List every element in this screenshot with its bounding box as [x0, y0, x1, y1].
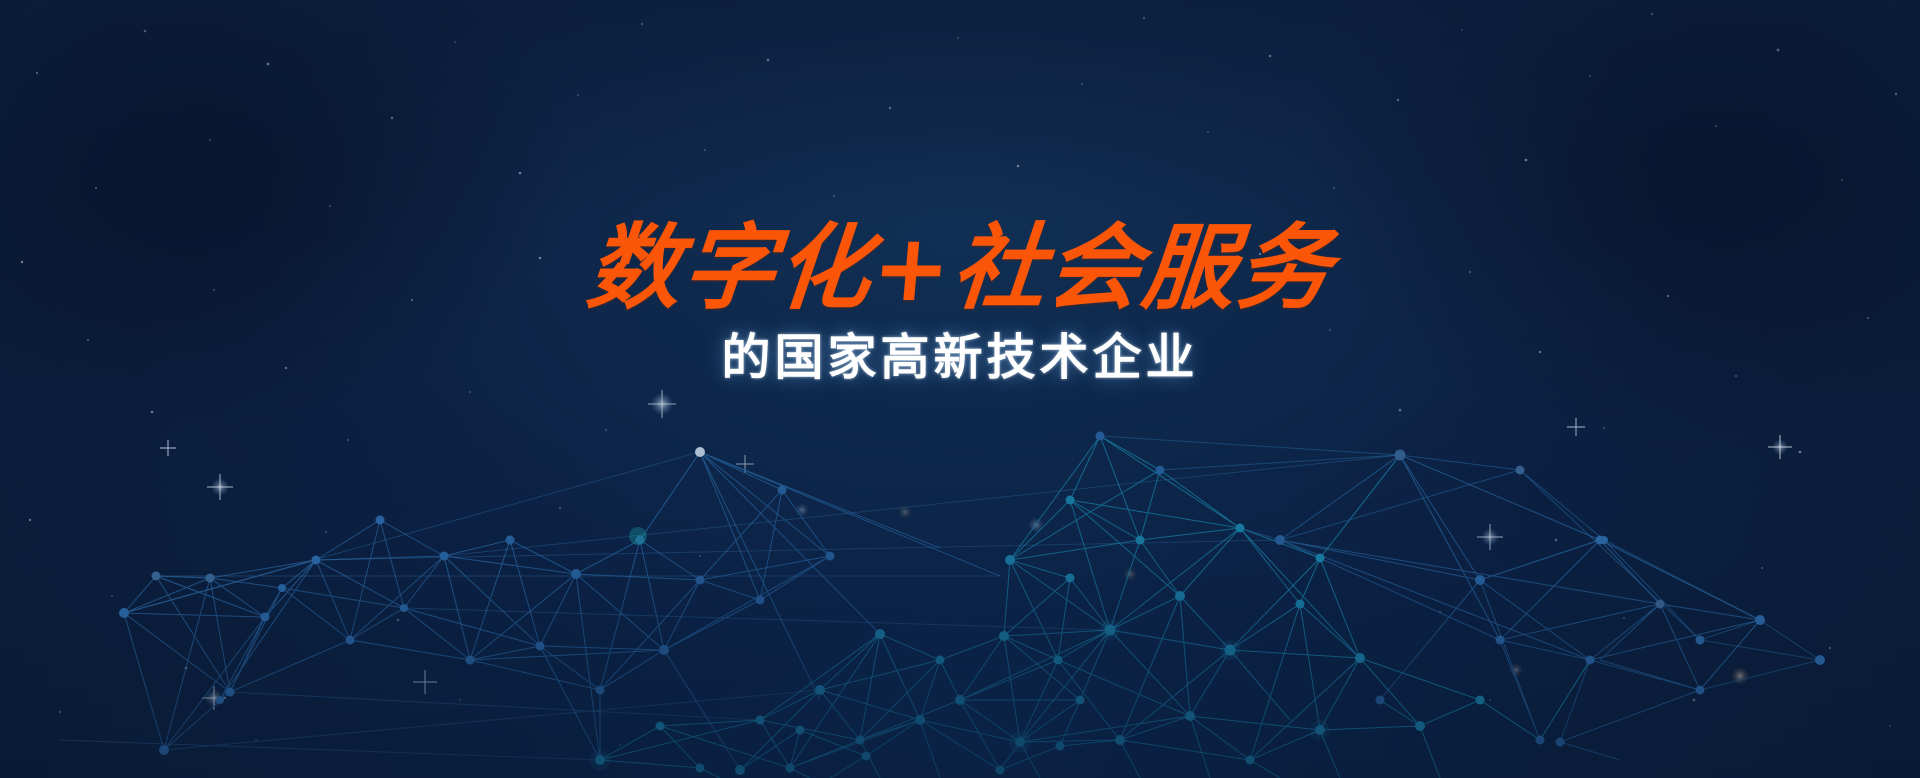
mesh-links-midleft — [350, 452, 1000, 770]
page-title: 数字化+社会服务 — [0, 222, 1920, 315]
hero-text-block: 数字化+社会服务 的国家高新技术企业 — [0, 222, 1920, 385]
hero-banner: 数字化+社会服务 的国家高新技术企业 — [0, 0, 1920, 778]
mesh-links-center — [760, 436, 1420, 768]
mesh-links-upper-right — [1280, 455, 1760, 760]
network-mesh-layer — [0, 0, 1920, 778]
mesh-links-left — [124, 520, 444, 750]
page-subtitle: 的国家高新技术企业 — [0, 331, 1920, 385]
mesh-nodes-cyan — [595, 432, 1485, 776]
mesh-links-right-arm — [1100, 436, 1820, 690]
